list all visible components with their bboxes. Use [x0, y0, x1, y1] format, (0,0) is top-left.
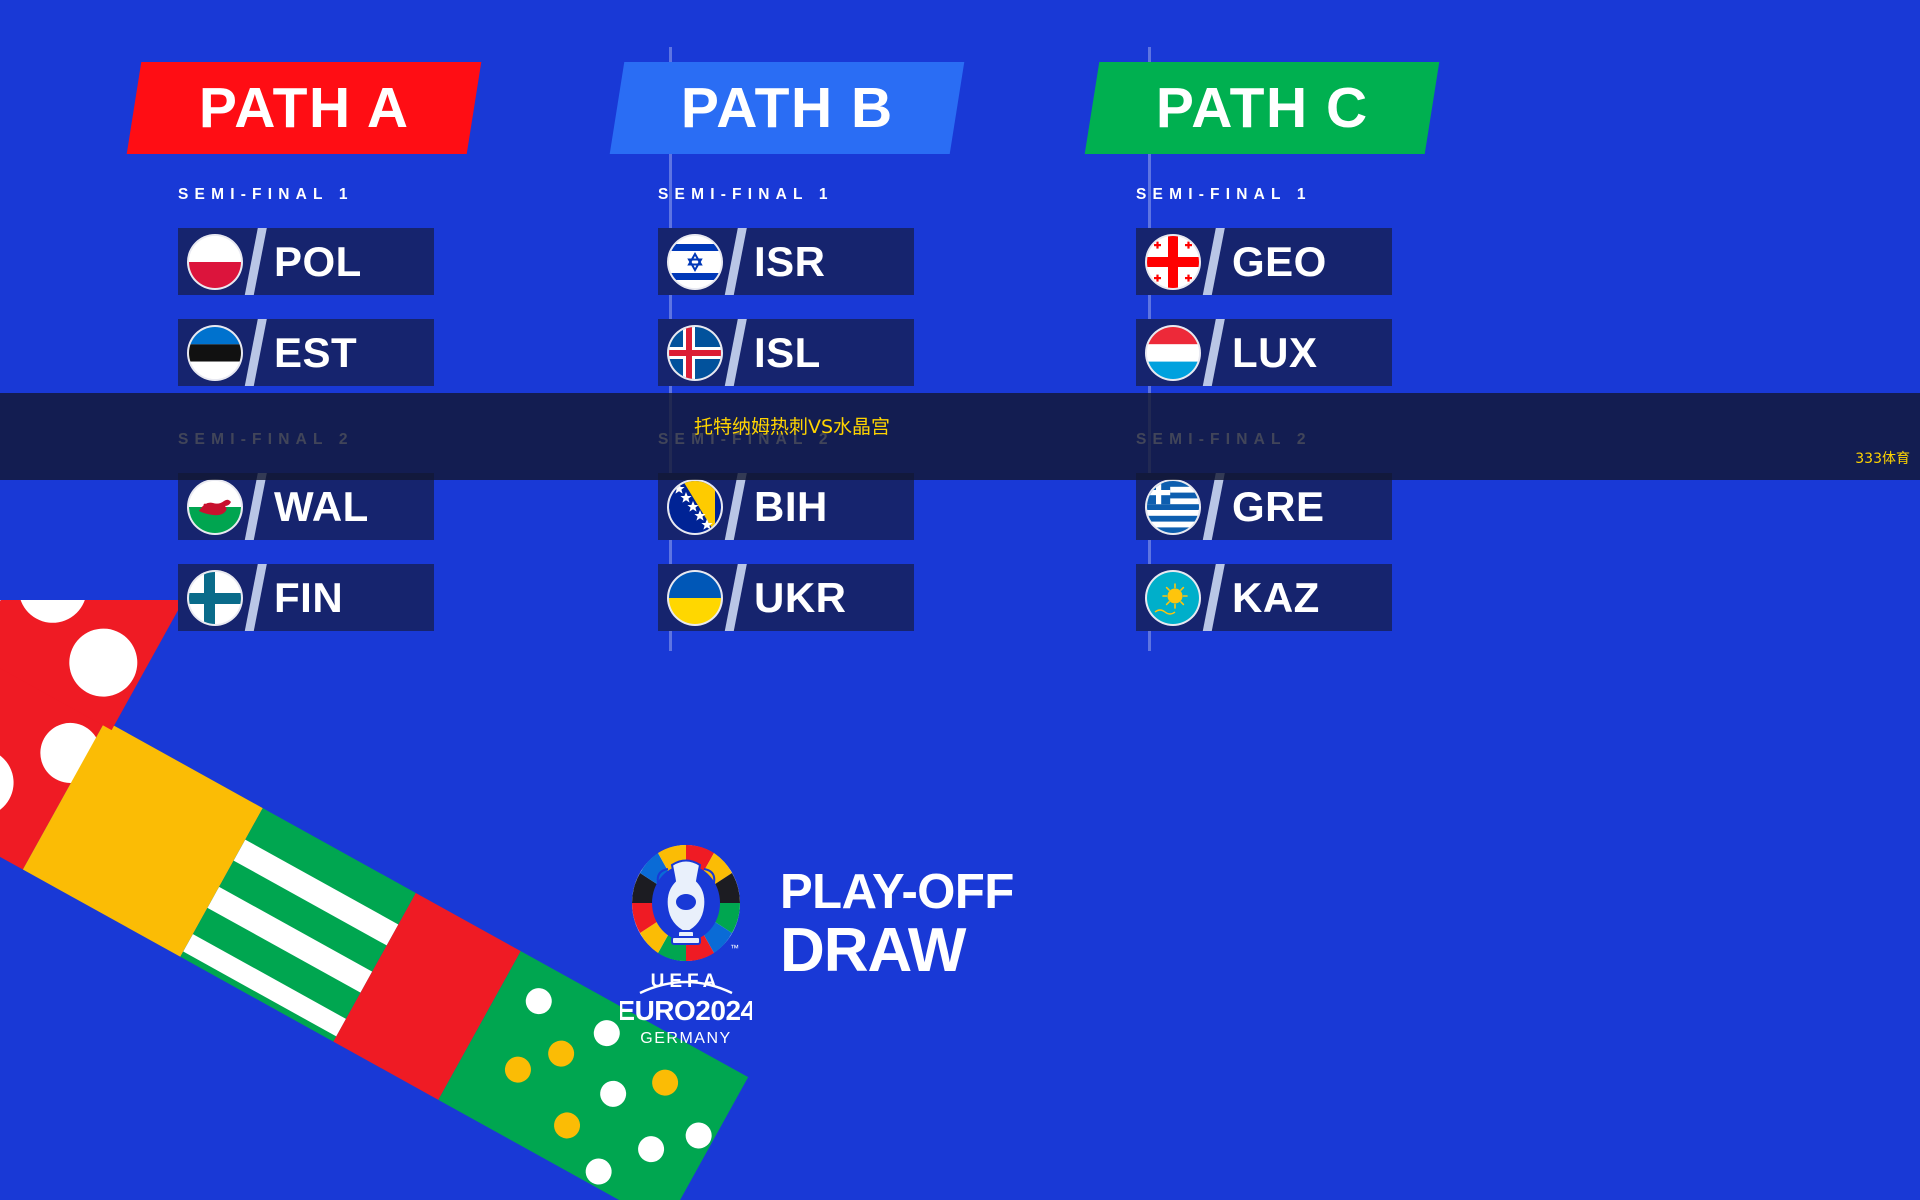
uefa-wordmark-block: UEFA EURO2024 GERMANY	[620, 967, 752, 1053]
team-code: ISR	[754, 228, 908, 295]
flag-cell	[178, 564, 252, 631]
team-row-kaz[interactable]: KAZ	[1136, 564, 1392, 631]
broadcast-overlay-band	[0, 393, 1920, 480]
footer-branding: ™ UEFA EURO2024 GERMANY PLAY-OFF DRAW	[620, 845, 1320, 1060]
team-code: LUX	[1232, 319, 1386, 386]
team-code: BIH	[754, 473, 908, 540]
uefa-text: UEFA	[651, 971, 722, 992]
path-a-semifinal-1-label: SEMI-FINAL 1	[178, 186, 354, 204]
path-c-banner: PATH C	[1085, 62, 1440, 154]
team-row-isr[interactable]: ISR	[658, 228, 914, 295]
path-c-semifinal-1-label: SEMI-FINAL 1	[1136, 186, 1312, 204]
flag-cell	[178, 319, 252, 386]
path-b-semifinal-1-label: SEMI-FINAL 1	[658, 186, 834, 204]
kazakhstan-flag-icon	[1147, 572, 1199, 624]
flag-cell	[178, 473, 252, 540]
team-row-bih[interactable]: BIH	[658, 473, 914, 540]
playoff-line-2: DRAW	[780, 918, 1014, 983]
team-code: KAZ	[1232, 564, 1386, 631]
team-row-wal[interactable]: WAL	[178, 473, 434, 540]
path-a-title: PATH A	[199, 80, 410, 137]
team-code: POL	[274, 228, 428, 295]
iceland-flag-icon	[669, 327, 721, 379]
wales-flag-icon	[189, 481, 241, 533]
bosnia-herzegovina-flag-icon	[669, 481, 721, 533]
estonia-flag-icon	[189, 327, 241, 379]
ukraine-flag-icon	[669, 572, 721, 624]
luxembourg-flag-icon	[1147, 327, 1199, 379]
path-a-banner: PATH A	[127, 62, 482, 154]
team-code: ISL	[754, 319, 908, 386]
playoff-line-1: PLAY-OFF	[780, 865, 1014, 919]
team-code: UKR	[754, 564, 908, 631]
team-row-ukr[interactable]: UKR	[658, 564, 914, 631]
team-row-est[interactable]: EST	[178, 319, 434, 386]
flag-cell	[658, 473, 732, 540]
overlay-match-text: 托特纳姆热刺VS水晶宫	[694, 418, 890, 437]
georgia-flag-icon	[1147, 236, 1199, 288]
flag-cell	[1136, 473, 1210, 540]
flag-cell	[1136, 228, 1210, 295]
team-row-isl[interactable]: ISL	[658, 319, 914, 386]
poland-flag-icon	[189, 236, 241, 288]
path-b-banner: PATH B	[610, 62, 965, 154]
flag-cell	[658, 228, 732, 295]
flag-cell	[658, 564, 732, 631]
flag-cell	[178, 228, 252, 295]
finland-flag-icon	[189, 572, 241, 624]
greece-flag-icon	[1147, 481, 1199, 533]
path-b-title: PATH B	[681, 80, 894, 137]
germany-text: GERMANY	[640, 1030, 731, 1047]
flag-cell	[658, 319, 732, 386]
team-code: GRE	[1232, 473, 1386, 540]
team-row-gre[interactable]: GRE	[1136, 473, 1392, 540]
team-code: GEO	[1232, 228, 1386, 295]
team-row-fin[interactable]: FIN	[178, 564, 434, 631]
uefa-euro-2024-logo: ™ UEFA EURO2024 GERMANY	[620, 845, 752, 1060]
team-code: FIN	[274, 564, 428, 631]
flag-cell	[1136, 319, 1210, 386]
team-row-geo[interactable]: GEO	[1136, 228, 1392, 295]
svg-text:™: ™	[730, 943, 739, 953]
team-row-lux[interactable]: LUX	[1136, 319, 1392, 386]
team-code: EST	[274, 319, 428, 386]
team-code: WAL	[274, 473, 428, 540]
playoff-draw-title: PLAY-OFF DRAW	[780, 867, 1014, 984]
path-c-title: PATH C	[1156, 80, 1369, 137]
team-row-pol[interactable]: POL	[178, 228, 434, 295]
overlay-watermark: 333体育	[1855, 452, 1910, 466]
flag-cell	[1136, 564, 1210, 631]
israel-flag-icon	[669, 236, 721, 288]
euro-2024-playoff-draw-graphic: PATH A SEMI-FINAL 1 POL EST SEMI-FINAL 2	[0, 0, 1920, 1080]
euro-2024-text: EURO2024	[620, 995, 752, 1026]
